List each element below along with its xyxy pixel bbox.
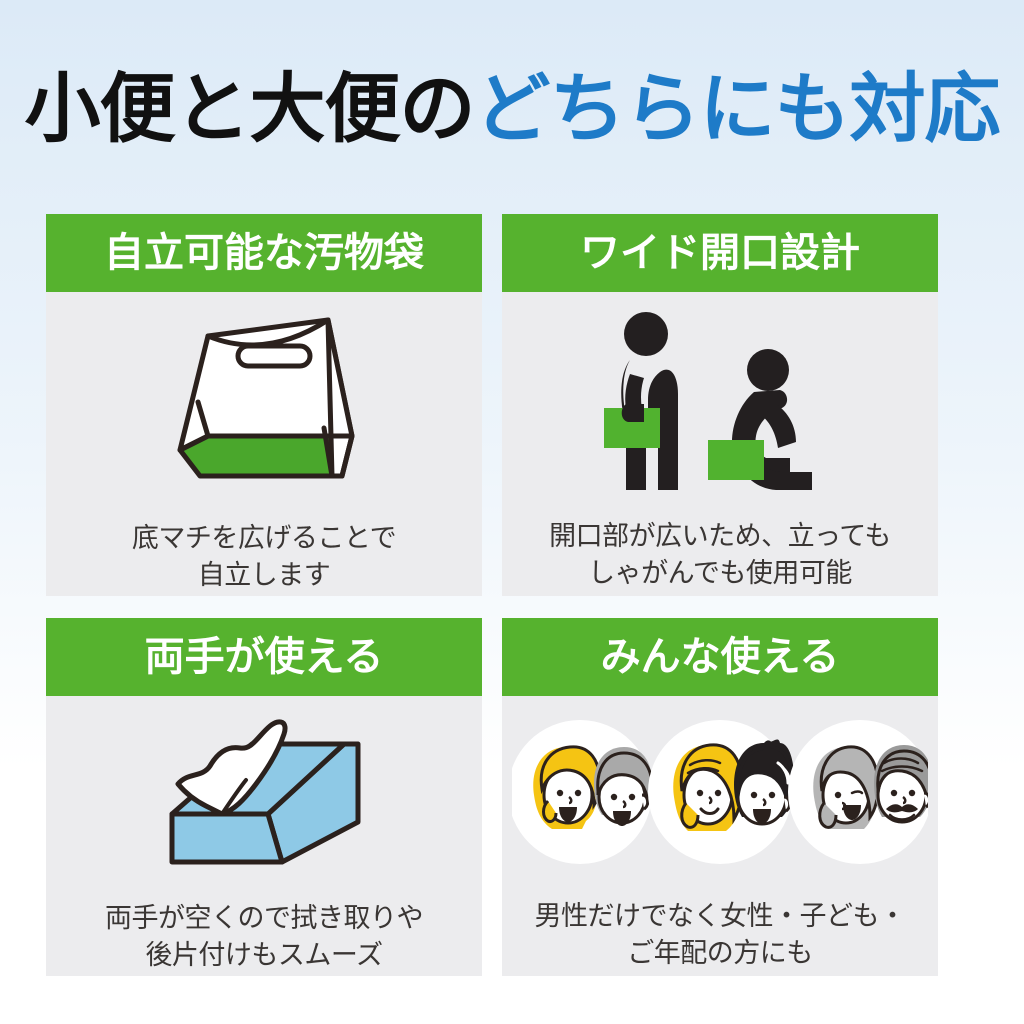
card-body-free-standing-bag: 底マチを広げることで 自立します (46, 292, 482, 596)
card-header-label: 両手が使える (145, 637, 384, 677)
feature-card-wide-opening-design: ワイド開口設計 (502, 214, 938, 596)
card-body-everyone-can-use: 男性だけでなく女性・子ども・ ご年配の方にも (502, 696, 938, 976)
card-header-free-standing-bag: 自立可能な汚物袋 (46, 214, 482, 292)
page-title-blue-segment: どちらにも対応 (475, 67, 1000, 152)
card-body-both-hands-free: 両手が空くので拭き取りや 後片付けもスムーズ (46, 696, 482, 976)
card-caption-both-hands-free: 両手が空くので拭き取りや 後片付けもスムーズ (46, 900, 482, 975)
three-face-pairs-icon (502, 712, 938, 872)
card-header-wide-opening-design: ワイド開口設計 (502, 214, 938, 292)
card-header-both-hands-free: 両手が使える (46, 618, 482, 696)
feature-card-free-standing-bag: 自立可能な汚物袋 (46, 214, 482, 596)
page-title: 小便と大便のどちらにも対応 (0, 72, 1024, 148)
tissue-box-icon (46, 710, 482, 878)
card-caption-wide-opening-design: 開口部が広いため、立っても しゃがんでも使用可能 (502, 518, 938, 593)
card-caption-everyone-can-use: 男性だけでなく女性・子ども・ ご年配の方にも (502, 898, 938, 973)
standing-and-squatting-pictogram-icon (502, 308, 938, 494)
feature-card-both-hands-free: 両手が使える 両 (46, 618, 482, 976)
card-body-wide-opening-design: 開口部が広いため、立っても しゃがんでも使用可能 (502, 292, 938, 596)
card-header-label: ワイド開口設計 (580, 233, 860, 273)
waste-bag-icon (46, 310, 482, 496)
card-caption-free-standing-bag: 底マチを広げることで 自立します (46, 520, 482, 595)
infographic-page: 小便と大便のどちらにも対応 自立可能な汚物袋 (0, 0, 1024, 1024)
feature-card-everyone-can-use: みんな使える (502, 618, 938, 976)
feature-card-grid: 自立可能な汚物袋 (46, 214, 978, 974)
page-title-black-segment: 小便と大便の (25, 67, 475, 152)
card-header-label: みんな使える (601, 637, 840, 677)
card-header-label: 自立可能な汚物袋 (104, 233, 424, 273)
card-header-everyone-can-use: みんな使える (502, 618, 938, 696)
